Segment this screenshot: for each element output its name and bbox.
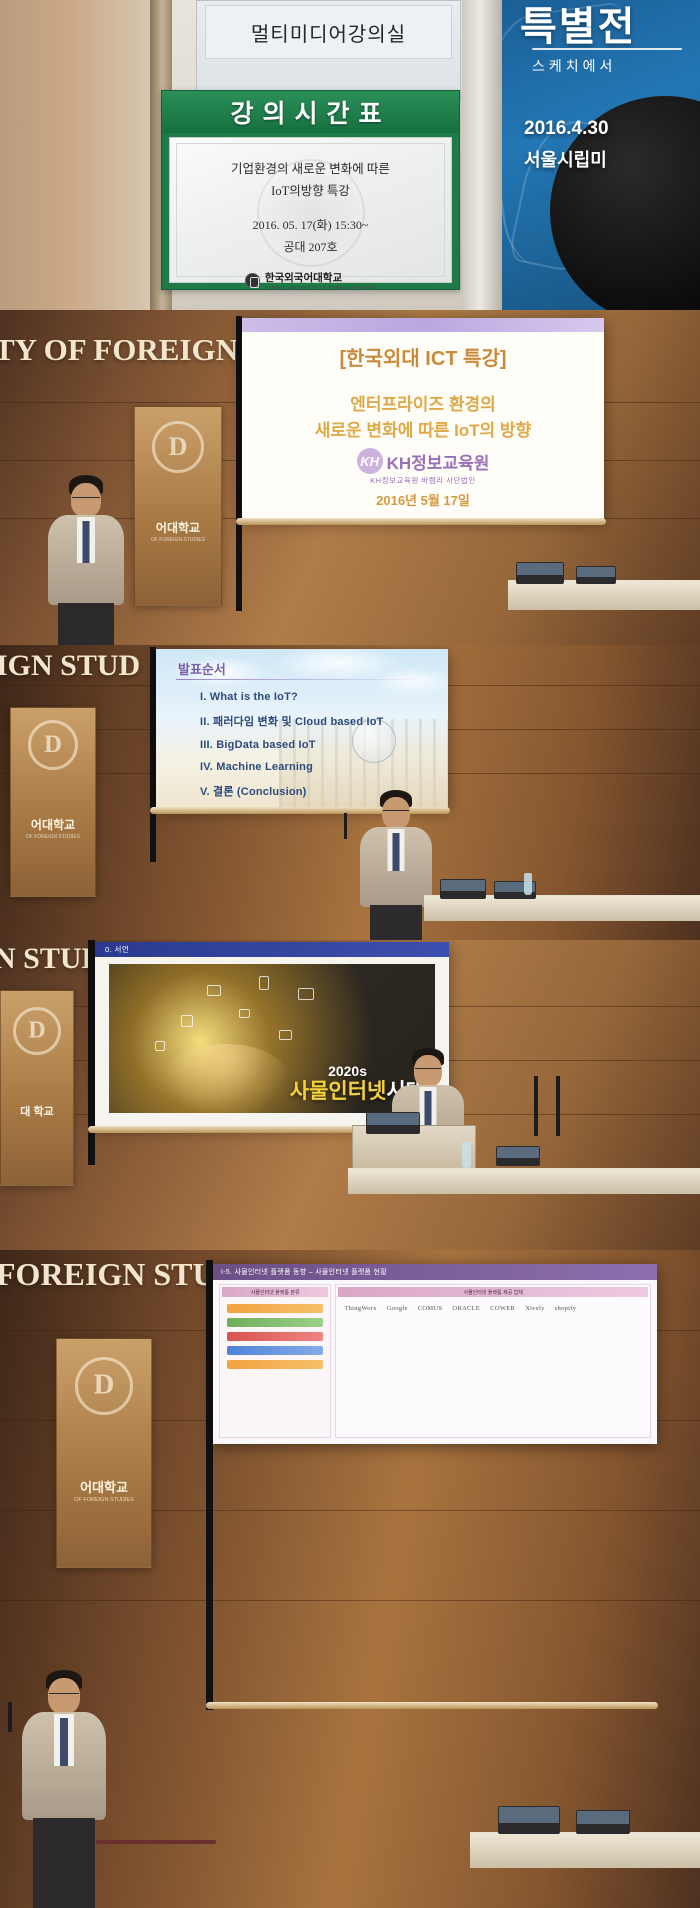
exhibition-poster: 특별전 스케치에서 2016.4.30 서울시립미 — [502, 0, 700, 310]
kh-logo-name: KH정보교육원 — [387, 449, 490, 474]
presenter-head — [71, 483, 101, 517]
poster-date: 2016.4.30 — [524, 118, 609, 140]
screen-roller-bar — [236, 518, 606, 525]
projection-screen: 발표순서 I. What is the IoT? II. 패러다임 변화 및 C… — [156, 649, 448, 809]
presenter-trousers — [33, 1818, 95, 1908]
room-plate-text: 멀티미디어강의실 — [251, 18, 406, 47]
laptop-secondary — [576, 1810, 630, 1834]
notice-date: 2016. 05. 17(화) 15:30~ — [253, 216, 369, 233]
presenter-figure — [44, 475, 128, 645]
av-desk — [470, 1832, 700, 1868]
presenter-glasses-icon — [49, 1693, 79, 1694]
slide-subtitle-line-1: 엔터프라이즈 환경의 — [242, 390, 604, 415]
projection-screen: [한국외대 ICT 특강] 엔터프라이즈 환경의 새로운 변화에 따른 IoT의… — [242, 318, 604, 520]
era-main-label: 사물인터넷시대 — [109, 1075, 425, 1105]
vendor-logo: ORACLE — [452, 1305, 480, 1312]
agenda-item: I. What is the IoT? — [200, 691, 384, 703]
floor-cable — [96, 1840, 216, 1844]
notice-room: 공대 207호 — [283, 238, 337, 255]
presenter-glasses-icon — [72, 497, 100, 498]
platform-slide-heading: I-5. 사물인터넷 플랫폼 동향 – 사물인터넷 플랫폼 현황 — [213, 1267, 387, 1277]
presenter-trousers — [370, 905, 422, 940]
crest-letter: D — [169, 432, 188, 462]
university-banner: D 어대학교 OF FOREIGN STUDIES — [10, 707, 96, 897]
projection-screen: I-5. 사물인터넷 플랫폼 동향 – 사물인터넷 플랫폼 현황 사물인터넷 플… — [213, 1264, 657, 1444]
university-name-en: HANKUK UNIVERSITY OF FOREIGN STUDIES — [265, 285, 376, 290]
timetable-board-header: 강의시간표 — [162, 91, 459, 133]
slide-section-tag-text: 0. 서언 — [95, 944, 129, 955]
presenter-tie — [60, 1718, 68, 1766]
wall-lettering: IGN STUD — [0, 649, 140, 683]
platform-slide-body: 사물인터넷 플랫폼 분류 사물인터넷 플랫폼 제공 업체 ThingWorx — [219, 1284, 651, 1438]
microphone-stand-2 — [556, 1076, 560, 1136]
platform-chip — [227, 1346, 323, 1355]
panel-platform-slide: FOREIGN STUD D 어대학교 OF FOREIGN STUDIES I… — [0, 1250, 700, 1908]
banner-text-ko: 어대학교 — [80, 1477, 128, 1496]
agenda-item: II. 패러다임 변화 및 Cloud based IoT — [200, 713, 384, 729]
panel-noticeboard: 멀티미디어강의실 강의시간표 기업환경의 새로운 변화에 따른 IoT의방향 특… — [0, 0, 700, 310]
laptop — [440, 879, 486, 899]
screen-edge — [206, 1260, 213, 1710]
slide-date: 2016년 5월 17일 — [242, 490, 604, 509]
timetable-board: 강의시간표 기업환경의 새로운 변화에 따른 IoT의방향 특강 2016. 0… — [161, 90, 460, 290]
platform-chip — [227, 1318, 323, 1327]
crest-letter: D — [94, 1369, 115, 1402]
laptop-secondary — [576, 566, 616, 584]
phone-icon — [259, 976, 269, 990]
timetable-board-title: 강의시간표 — [230, 94, 390, 130]
university-banner: D 어대학교 OF FOREIGN STUDIES — [134, 406, 222, 606]
presenter-tie — [425, 1091, 432, 1127]
laptop — [366, 1112, 420, 1134]
presenter-trousers — [58, 603, 114, 645]
camera-icon — [181, 1015, 193, 1027]
banner-text-en: OF FOREIGN STUDIES — [151, 537, 205, 543]
laptop-icon — [279, 1030, 292, 1040]
agenda-divider — [176, 679, 426, 680]
slide-subtitle-line-2: 새로운 변화에 따른 IoT의 방향 — [242, 416, 604, 441]
presenter-head — [414, 1055, 442, 1087]
presenter-head — [48, 1678, 80, 1714]
panel-title-slide: TY OF FOREIGN STUD D 어대학교 OF FOREIGN STU… — [0, 310, 700, 645]
platform-chip — [227, 1304, 323, 1313]
platform-logo-grid: ThingWorx Google COMUS ORACLE COWER Xive… — [340, 1301, 646, 1433]
platform-slide-header: I-5. 사물인터넷 플랫폼 동향 – 사물인터넷 플랫폼 현황 — [213, 1264, 657, 1280]
banner-text-ko: 어대학교 — [156, 519, 200, 536]
tablet-icon — [239, 1009, 250, 1018]
room-name-plate: 멀티미디어강의실 — [196, 0, 461, 100]
wall-lettering: FOREIGN STUD — [0, 1256, 239, 1293]
slide-heading: [한국외대 ICT 특강] — [242, 342, 604, 371]
presenter-figure — [18, 1670, 110, 1908]
university-banner: D 대 학교 — [0, 990, 74, 1186]
platform-column-left: 사물인터넷 플랫폼 분류 — [219, 1284, 331, 1438]
microphone — [344, 813, 347, 839]
era-main-yellow: 사물인터넷 — [290, 1080, 387, 1103]
platform-column-right-header: 사물인터넷 플랫폼 제공 업체 — [338, 1287, 648, 1297]
vendor-logo: Xively — [525, 1305, 545, 1312]
crest-letter: D — [44, 731, 62, 759]
vendor-logo: shopify — [555, 1305, 577, 1312]
presenter-tie — [393, 833, 400, 871]
slide-agenda-page: 발표순서 I. What is the IoT? II. 패러다임 변화 및 C… — [156, 649, 448, 809]
platform-chip-list — [224, 1301, 326, 1372]
screen-roller-bar — [206, 1702, 658, 1709]
panel-agenda-slide: IGN STUD D 어대학교 OF FOREIGN STUDIES 발표순서 … — [0, 645, 700, 940]
university-logo: 한국외국어대학교 HANKUK UNIVERSITY OF FOREIGN ST… — [245, 270, 376, 290]
university-name-ko: 한국외국어대학교 — [265, 270, 376, 285]
microphone — [8, 1702, 12, 1732]
laptop — [498, 1806, 560, 1834]
panel-iot-era-slide: N STUD D 대 학교 0. 서언 — [0, 940, 700, 1250]
slide-platform-page: I-5. 사물인터넷 플랫폼 동향 – 사물인터넷 플랫폼 현황 사물인터넷 플… — [213, 1264, 657, 1444]
slide-title-page: [한국외대 ICT 특강] 엔터프라이즈 환경의 새로운 변화에 따른 IoT의… — [242, 318, 604, 520]
university-seal-icon — [245, 273, 260, 288]
av-desk — [508, 580, 700, 610]
platform-chip — [227, 1332, 323, 1341]
poster-title: 특별전 — [520, 0, 700, 52]
water-bottle — [462, 1142, 471, 1168]
av-desk — [348, 1168, 700, 1194]
photo-collage: 멀티미디어강의실 강의시간표 기업환경의 새로운 변화에 따른 IoT의방향 특… — [0, 0, 700, 1908]
banner-text-en: OF FOREIGN STUDIES — [74, 1497, 134, 1503]
platform-chip — [227, 1360, 323, 1369]
platform-column-right: 사물인터넷 플랫폼 제공 업체 ThingWorx Google COMUS O… — [335, 1284, 651, 1438]
banner-text-en: OF FOREIGN STUDIES — [26, 834, 80, 840]
vendor-logo: COMUS — [418, 1305, 443, 1312]
slide-top-band — [242, 318, 604, 332]
vendor-logo: ThingWorx — [344, 1305, 377, 1312]
poster-subtitle: 스케치에서 — [532, 56, 616, 76]
presenter-head — [382, 797, 410, 829]
poster-venue: 서울시립미 — [524, 146, 607, 172]
agenda-item: III. BigData based IoT — [200, 739, 384, 751]
notice-line-2: IoT의방향 특강 — [271, 180, 350, 199]
slide-photo-art: 2020s 사물인터넷시대 — [109, 964, 435, 1113]
university-banner: D 어대학교 OF FOREIGN STUDIES — [56, 1338, 152, 1568]
tv-icon — [298, 988, 314, 1000]
kh-mark-icon: KH — [357, 448, 383, 474]
notice-paper: 기업환경의 새로운 변화에 따른 IoT의방향 특강 2016. 05. 17(… — [169, 137, 452, 283]
crest-letter: D — [28, 1018, 45, 1045]
vendor-logo: COWER — [490, 1305, 515, 1312]
platform-column-left-header: 사물인터넷 플랫폼 분류 — [222, 1287, 328, 1297]
cloud-icon — [155, 1041, 165, 1051]
presenter-glasses-icon — [415, 1068, 441, 1069]
wall-left — [0, 0, 170, 310]
monitor-icon — [207, 985, 221, 996]
wall-pillar — [462, 0, 502, 310]
notice-line-1: 기업환경의 새로운 변화에 따른 — [231, 158, 390, 177]
laptop — [516, 562, 564, 584]
microphone-stand — [534, 1076, 538, 1136]
kh-logo-subtext: KH정보교육원 바램리 사단법인 — [242, 475, 604, 486]
poster-divider — [532, 48, 682, 50]
agenda-heading: 발표순서 — [178, 659, 226, 678]
kh-logo: KH KH정보교육원 — [242, 448, 604, 474]
banner-text-ko: 어대학교 — [31, 816, 75, 833]
presenter-glasses-icon — [383, 810, 409, 811]
presenter-tie — [83, 521, 90, 563]
banner-text-ko: 대 학교 — [20, 1103, 53, 1119]
vendor-logo: Google — [387, 1305, 408, 1312]
slide-section-tag: 0. 서언 — [95, 942, 449, 957]
laptop-secondary — [496, 1146, 540, 1166]
water-bottle — [524, 873, 532, 895]
agenda-item: IV. Machine Learning — [200, 761, 384, 773]
